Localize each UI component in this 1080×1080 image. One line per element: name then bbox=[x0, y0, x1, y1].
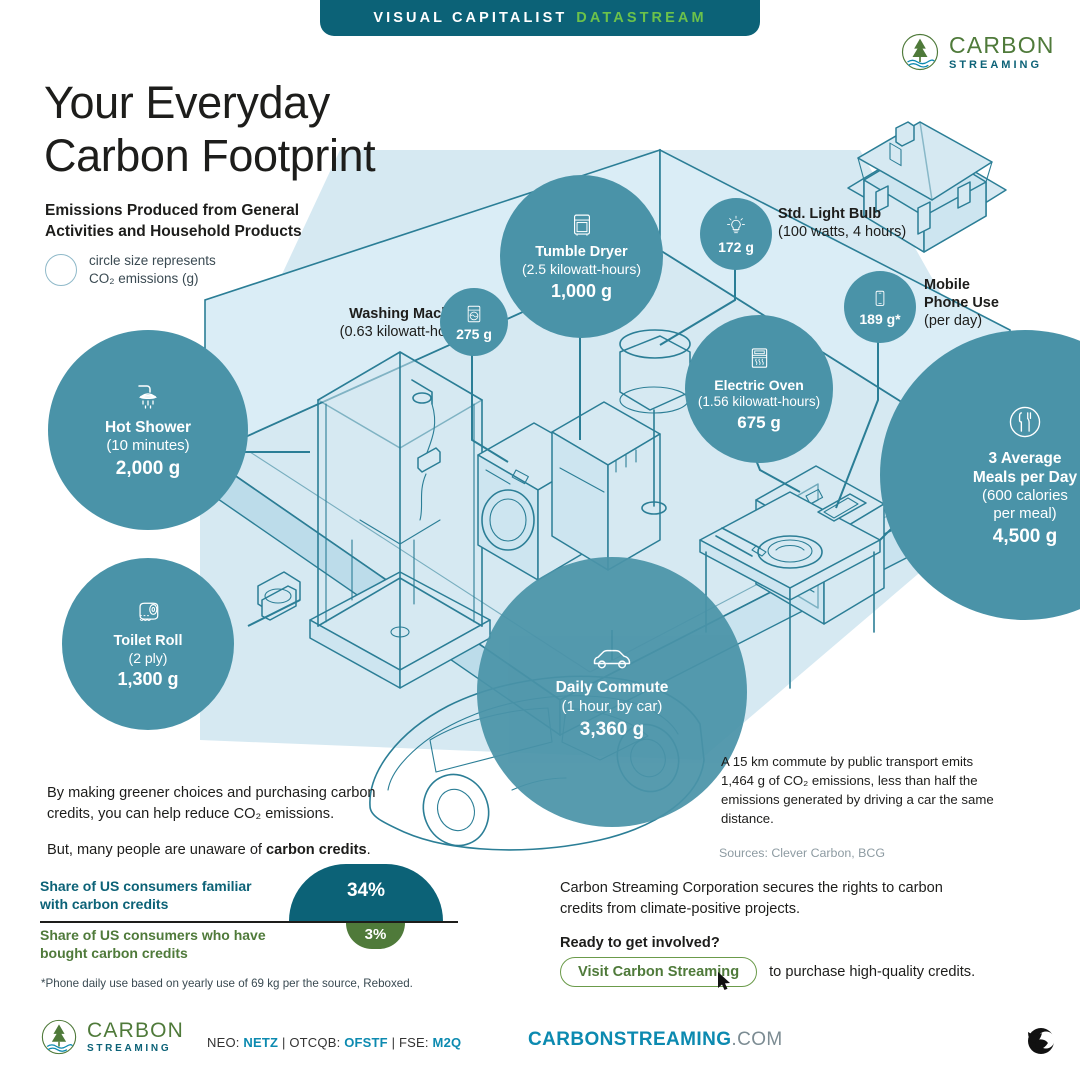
ticker-sep-2: | bbox=[388, 1035, 399, 1050]
bubble-daily-commute[interactable]: Daily Commute (1 hour, by car) 3,360 g bbox=[477, 557, 747, 827]
stat-baseline bbox=[40, 921, 458, 923]
bubble-electric-oven-value: 675 g bbox=[737, 413, 780, 433]
bubble-tumble-dryer-name: Tumble Dryer bbox=[535, 244, 627, 261]
banner-visual-capitalist: VISUAL CAPITALIST bbox=[373, 10, 567, 26]
carbon-credits-copy: By making greener choices and purchasing… bbox=[47, 783, 387, 877]
bubble-meals-name-line1: 3 Average bbox=[989, 450, 1062, 468]
label-light-bulb-sub: (100 watts, 4 hours) bbox=[778, 223, 1008, 241]
bubble-hot-shower-name: Hot Shower bbox=[105, 419, 191, 437]
bubble-daily-commute-name: Daily Commute bbox=[556, 679, 669, 697]
bubble-light-bulb-value: 172 g bbox=[718, 239, 754, 255]
label-mobile-phone-sub: (per day) bbox=[924, 312, 1064, 330]
bubble-tumble-dryer[interactable]: Tumble Dryer (2.5 kilowatt-hours) 1,000 … bbox=[500, 175, 663, 338]
bubble-electric-oven[interactable]: Electric Oven (1.56 kilowatt-hours) 675 … bbox=[685, 315, 833, 463]
public-transport-note: A 15 km commute by public transport emit… bbox=[721, 752, 1001, 829]
brand-carbon-text-footer: CARBON bbox=[87, 1020, 184, 1041]
copy-paragraph-2-a: But, many people are unaware of bbox=[47, 842, 266, 858]
legend-line1: circle size represents bbox=[89, 253, 216, 268]
stat-label-familiar: Share of US consumers familiar with carb… bbox=[40, 878, 280, 914]
page-title-line1: Your Everyday bbox=[44, 76, 564, 129]
tumble-dryer-icon bbox=[568, 211, 596, 239]
website-url-tld: .COM bbox=[731, 1029, 782, 1050]
legend-text: circle size represents CO₂ emissions (g) bbox=[89, 252, 216, 288]
bubble-washing-machine-value: 275 g bbox=[456, 326, 492, 342]
ticker-symbol-ofstf: OFSTF bbox=[344, 1035, 388, 1050]
bubble-meals-sub-line2: per meal) bbox=[993, 505, 1056, 523]
bubble-hot-shower-sub: (10 minutes) bbox=[106, 437, 189, 455]
stat-value-bought: 3% bbox=[346, 926, 405, 943]
bubble-mobile-phone-value: 189 g* bbox=[859, 311, 900, 327]
bubble-meals-sub-line1: (600 calories bbox=[982, 487, 1068, 505]
mouse-cursor-icon bbox=[718, 972, 734, 992]
website-url[interactable]: CARBONSTREAMING.COM bbox=[528, 1029, 783, 1051]
legend-line2: CO₂ emissions (g) bbox=[89, 271, 199, 286]
bubble-meals-name-line2: Meals per Day bbox=[973, 469, 1077, 487]
ticker-exchange-otcqb: OTCQB: bbox=[289, 1035, 344, 1050]
label-light-bulb-name: Std. Light Bulb bbox=[778, 205, 1008, 223]
brand-carbon-text: CARBON bbox=[949, 34, 1055, 57]
carbon-streaming-logo-footer[interactable]: CARBON STREAMING bbox=[40, 1018, 184, 1056]
label-mobile-phone-name-line2: Phone Use bbox=[924, 294, 1064, 312]
bubble-daily-commute-sub: (1 hour, by car) bbox=[562, 698, 663, 716]
ticker-exchange-neo: NEO: bbox=[207, 1035, 243, 1050]
cta-row: Visit Carbon Streaming to purchase high-… bbox=[560, 957, 975, 987]
oven-icon bbox=[746, 345, 773, 372]
ticker-sep-1: | bbox=[278, 1035, 289, 1050]
bubble-toilet-roll-sub: (2 ply) bbox=[129, 650, 168, 667]
copy-paragraph-2-c: . bbox=[367, 842, 371, 858]
label-mobile-phone-name-line1: Mobile bbox=[924, 276, 1064, 294]
copy-paragraph-2-bold: carbon credits bbox=[266, 842, 367, 858]
bubble-tumble-dryer-sub: (2.5 kilowatt-hours) bbox=[522, 261, 641, 278]
carbon-credits-stat-chart: 34% 3% Share of US consumers familiar wi… bbox=[40, 875, 460, 960]
page-subtitle-line2: Activities and Household Products bbox=[45, 221, 375, 242]
shower-icon bbox=[131, 380, 165, 414]
toilet-roll-icon bbox=[133, 598, 163, 628]
website-url-name: CARBONSTREAMING bbox=[528, 1029, 731, 1050]
brand-streaming-text-footer: STREAMING bbox=[87, 1044, 184, 1054]
stat-label-bought: Share of US consumers who have bought ca… bbox=[40, 927, 290, 963]
bubble-toilet-roll-value: 1,300 g bbox=[117, 669, 178, 690]
toilet-illustration bbox=[258, 572, 300, 620]
infographic-canvas: .rm{fill:#d6e9f2;} .rmd{fill:#c5e0ee;} .… bbox=[0, 0, 1080, 1080]
fridge-illustration bbox=[552, 402, 660, 570]
lamp-illustration bbox=[620, 330, 690, 514]
ticker-symbol-m2q: M2Q bbox=[433, 1035, 462, 1050]
datastream-banner: VISUAL CAPITALIST DATASTREAM bbox=[320, 0, 760, 36]
label-light-bulb: Std. Light Bulb (100 watts, 4 hours) bbox=[778, 205, 1008, 241]
bubble-light-bulb[interactable]: 172 g bbox=[700, 198, 772, 270]
copy-paragraph-2: But, many people are unaware of carbon c… bbox=[47, 840, 387, 861]
bubble-washing-machine[interactable]: 275 g bbox=[440, 288, 508, 356]
washing-machine-illustration bbox=[478, 423, 594, 580]
bubble-electric-oven-sub: (1.56 kilowatt-hours) bbox=[698, 394, 820, 410]
page-title-line2: Carbon Footprint bbox=[44, 129, 564, 182]
bubble-daily-commute-value: 3,360 g bbox=[580, 719, 644, 741]
light-bulb-icon bbox=[724, 214, 748, 238]
cutlery-icon bbox=[1005, 402, 1045, 442]
stat-value-familiar: 34% bbox=[289, 880, 443, 902]
bubble-toilet-roll-name: Toilet Roll bbox=[113, 633, 182, 650]
pine-tree-circle-icon bbox=[900, 32, 940, 72]
phone-footnote: *Phone daily use based on yearly use of … bbox=[41, 977, 413, 990]
oven-illustration bbox=[756, 466, 884, 624]
pine-tree-circle-icon-footer bbox=[40, 1018, 78, 1056]
bubble-meals-value: 4,500 g bbox=[993, 526, 1057, 548]
stock-tickers: NEO: NETZ | OTCQB: OFSTF | FSE: M2Q bbox=[207, 1035, 461, 1050]
shower-cubicle-illustration bbox=[310, 352, 490, 688]
ticker-symbol-netz: NETZ bbox=[243, 1035, 278, 1050]
carbon-streaming-description: Carbon Streaming Corporation secures the… bbox=[560, 878, 960, 920]
bubble-toilet-roll[interactable]: Toilet Roll (2 ply) 1,300 g bbox=[62, 558, 234, 730]
page-subtitle-line1: Emissions Produced from General bbox=[45, 200, 375, 221]
cta-tail-text: to purchase high-quality credits. bbox=[769, 964, 975, 980]
bubble-size-legend: circle size represents CO₂ emissions (g) bbox=[45, 252, 216, 288]
car-icon bbox=[589, 643, 635, 673]
bubble-hot-shower-value: 2,000 g bbox=[116, 458, 180, 480]
sources-text: Sources: Clever Carbon, BCG bbox=[719, 846, 885, 860]
page-subtitle: Emissions Produced from General Activiti… bbox=[45, 200, 375, 243]
bubble-tumble-dryer-value: 1,000 g bbox=[551, 281, 612, 302]
bubble-meals-per-day[interactable]: 3 Average Meals per Day (600 calories pe… bbox=[880, 330, 1080, 620]
ticker-exchange-fse: FSE: bbox=[399, 1035, 433, 1050]
brand-streaming-text: STREAMING bbox=[949, 60, 1055, 71]
ready-to-get-involved-heading: Ready to get involved? bbox=[560, 935, 720, 951]
label-mobile-phone: Mobile Phone Use (per day) bbox=[924, 276, 1064, 330]
copy-paragraph-1: By making greener choices and purchasing… bbox=[47, 783, 387, 824]
mobile-phone-icon bbox=[869, 288, 891, 310]
washing-machine-icon bbox=[463, 303, 485, 325]
carbon-streaming-logo-header[interactable]: CARBON STREAMING bbox=[900, 32, 1055, 72]
banner-datastream: DATASTREAM bbox=[576, 10, 706, 26]
bubble-hot-shower[interactable]: Hot Shower (10 minutes) 2,000 g bbox=[48, 330, 248, 530]
bubble-electric-oven-name: Electric Oven bbox=[714, 377, 804, 393]
visual-capitalist-logo-icon bbox=[1024, 1026, 1058, 1056]
legend-circle-icon bbox=[45, 254, 77, 286]
bubble-mobile-phone[interactable]: 189 g* bbox=[844, 271, 916, 343]
page-title: Your Everyday Carbon Footprint bbox=[44, 76, 564, 182]
